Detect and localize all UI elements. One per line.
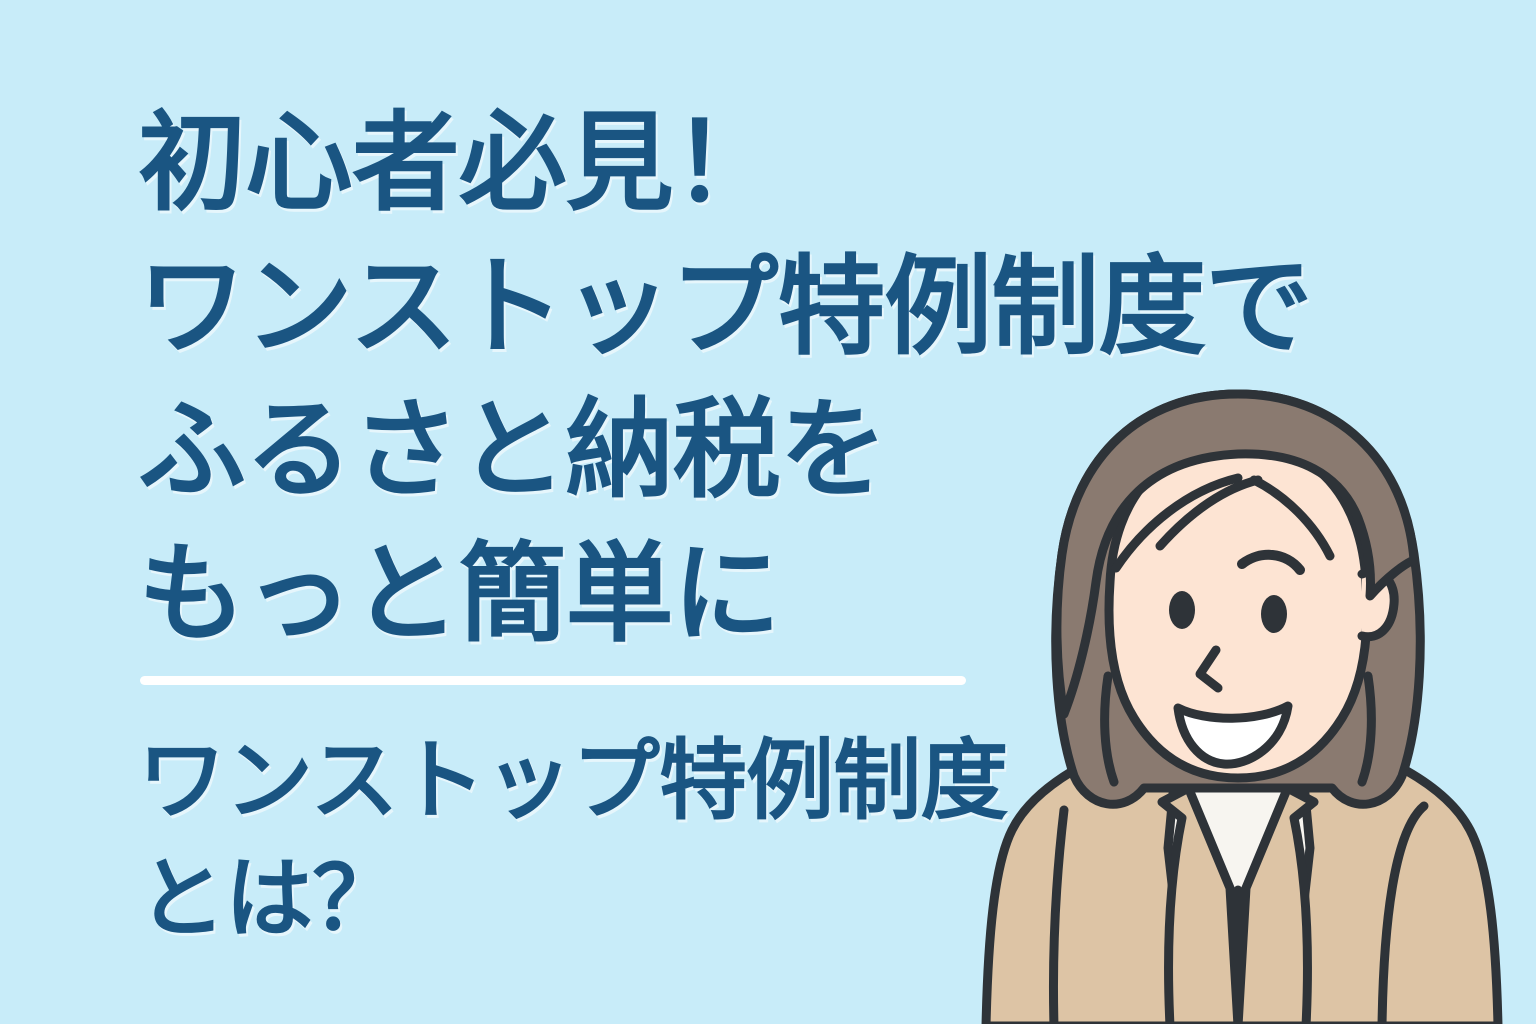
subtitle-line-1: ワンストップ特例制度: [138, 722, 1038, 840]
banner-root: 初心者必見！ ワンストップ特例制度で ふるさと納税を もっと簡単に ワンストップ…: [0, 0, 1536, 1024]
headline-line-2: ワンストップ特例制度で: [138, 236, 1428, 380]
page-title: 初心者必見！ ワンストップ特例制度で ふるさと納税を もっと簡単に: [138, 92, 1428, 667]
subtitle: ワンストップ特例制度 とは？: [138, 722, 1038, 958]
headline-line-1: 初心者必見！: [138, 92, 1428, 236]
headline-line-4: もっと簡単に: [138, 523, 1428, 667]
subtitle-line-2: とは？: [138, 840, 1038, 958]
headline-line-3: ふるさと納税を: [138, 379, 1428, 523]
headline-block: 初心者必見！ ワンストップ特例制度で ふるさと納税を もっと簡単に: [138, 92, 1428, 667]
divider-rule: [140, 676, 966, 685]
